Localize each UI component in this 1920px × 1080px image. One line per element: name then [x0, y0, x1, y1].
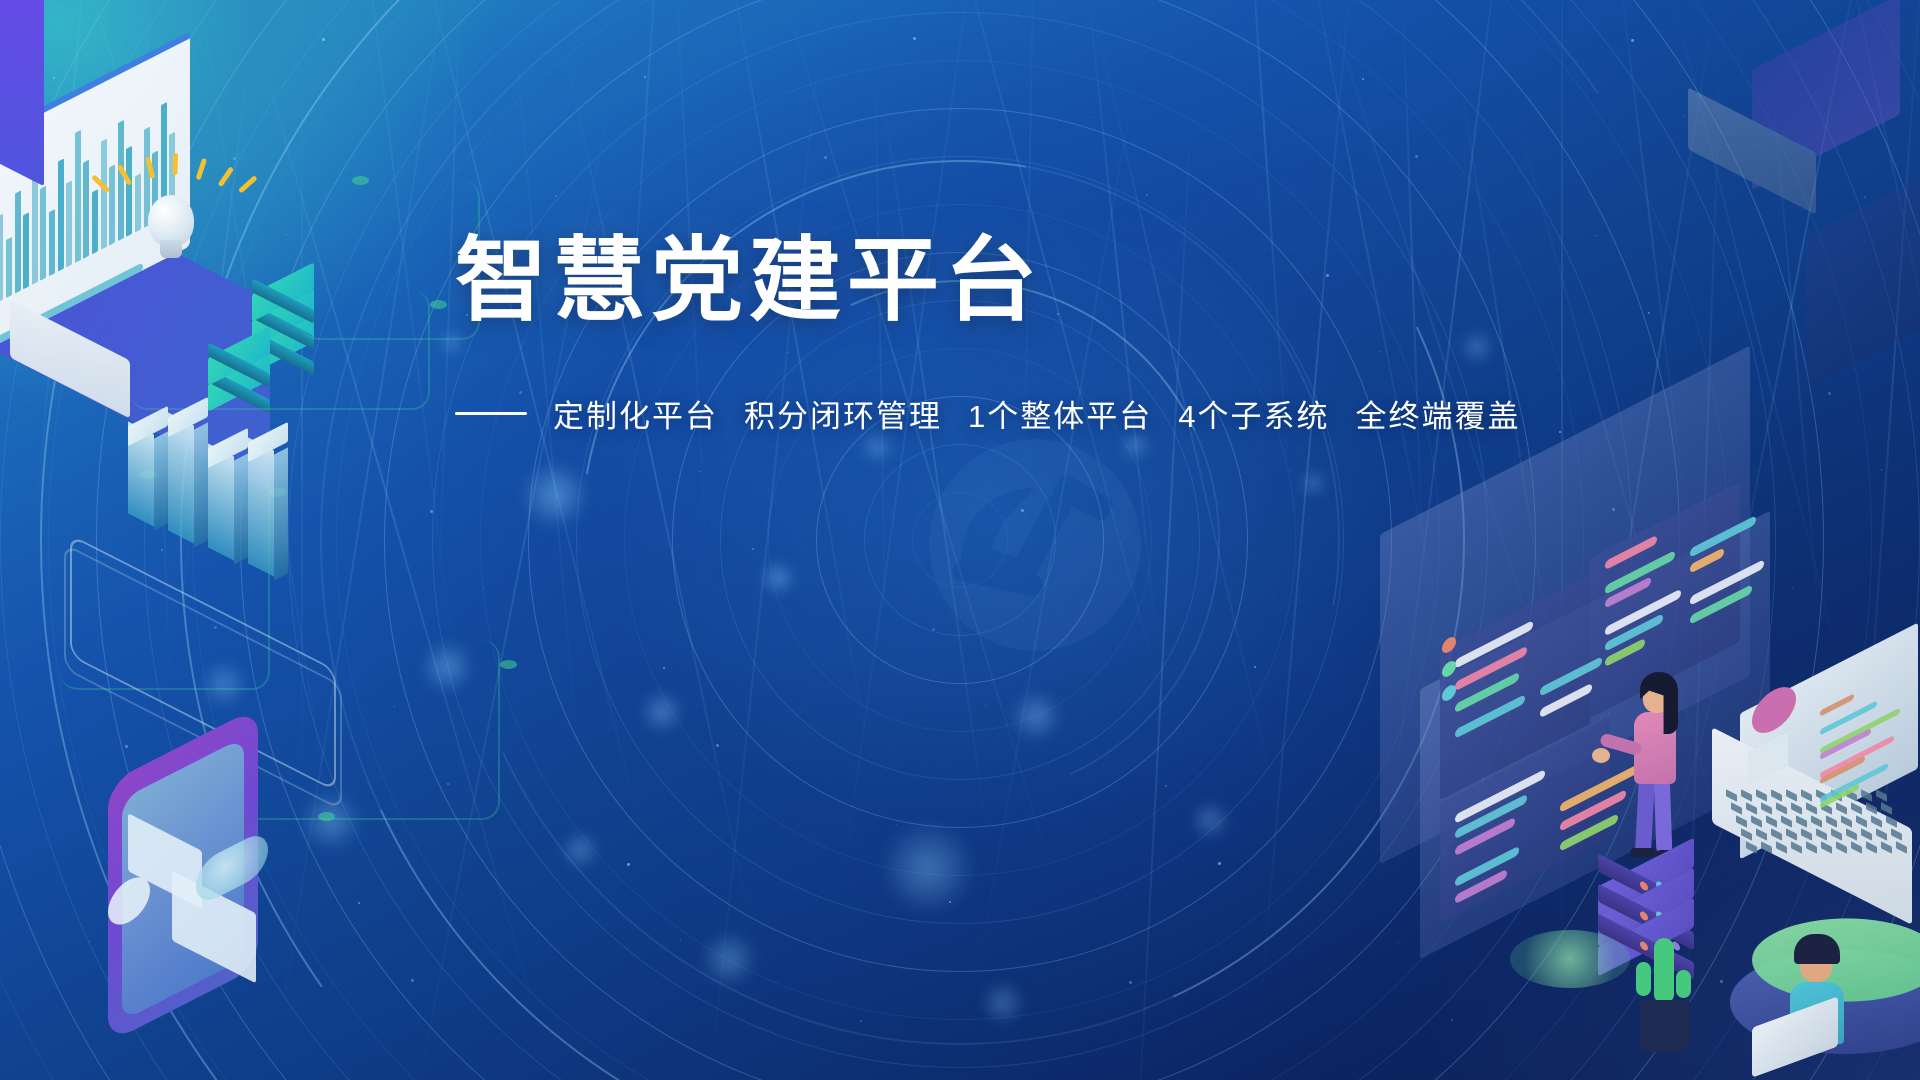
spark-dot [1129, 981, 1132, 984]
circuit-node [500, 660, 517, 669]
subtitle-segment-5: 全终端覆盖 [1356, 399, 1521, 434]
spark-dot [1165, 785, 1167, 787]
subtitle-segment-1: 定制化平台 [553, 399, 718, 434]
spark-dot [1362, 78, 1364, 80]
spark-dot [663, 667, 665, 669]
cactus-arm [1676, 970, 1691, 998]
presenter-shoe [1630, 848, 1656, 857]
spark-dot [1720, 980, 1723, 983]
bokeh-dot [1010, 690, 1062, 742]
spark-dot [1828, 392, 1831, 395]
spark-dot [680, 940, 681, 941]
page-title: 智慧党建平台 [455, 235, 1555, 327]
spark-dot [752, 548, 754, 550]
cpc-party-emblem-icon [920, 430, 1150, 660]
spark-dot [1398, 942, 1399, 943]
spark-dot [1254, 666, 1256, 668]
banner-text-block: 智慧党建平台 定制化平台积分闭环管理1个整体平台4个子系统全终端覆盖 [455, 235, 1555, 436]
spark-dot [1290, 470, 1291, 471]
spark-dot [1218, 862, 1221, 865]
platform-glow-disc [1510, 930, 1630, 988]
bokeh-dot [640, 690, 684, 734]
cactus-arm [1636, 962, 1651, 996]
spark-dot [860, 1020, 862, 1022]
bokeh-dot [1300, 470, 1326, 496]
spark-dot [1559, 431, 1561, 433]
spark-dot [824, 156, 827, 159]
banner-stage: 智慧党建平台 定制化平台积分闭环管理1个整体平台4个子系统全终端覆盖 [0, 0, 1920, 1080]
spark-dot [1881, 469, 1882, 470]
seated-person-hair [1794, 934, 1840, 964]
laptop-icon [0, 0, 360, 290]
spark-dot [949, 901, 951, 903]
subtitle-segment-3: 1个整体平台 [968, 399, 1152, 434]
subtitle-row: 定制化平台积分闭环管理1个整体平台4个子系统全终端覆盖 [455, 391, 1555, 436]
spark-dot [1595, 235, 1596, 236]
spark-dot [1648, 312, 1650, 314]
bokeh-dot [700, 930, 758, 988]
spark-dot [591, 1059, 592, 1060]
spark-dot [1146, 194, 1148, 196]
circuit-node [318, 812, 335, 821]
spark-dot [1182, 1058, 1183, 1059]
presenter-hand [1592, 748, 1610, 763]
spark-dot [358, 902, 360, 904]
spark-dot [985, 705, 986, 706]
spark-dot [627, 863, 630, 866]
bokeh-dot [1190, 800, 1230, 840]
spark-dot [1864, 196, 1866, 198]
spark-dot [1631, 39, 1634, 42]
spark-dot [716, 744, 719, 747]
bokeh-dot [760, 560, 796, 596]
spark-dot [896, 824, 897, 825]
spark-dot [913, 37, 916, 40]
subtitle-segment-4: 4个子系统 [1178, 399, 1329, 434]
bokeh-dot [880, 820, 976, 916]
cactus-stem [1654, 938, 1674, 1004]
spark-dot [411, 979, 414, 982]
bokeh-dot [560, 830, 600, 870]
subtitle-segment-2: 积分闭环管理 [744, 399, 942, 434]
plant-pot [1640, 1000, 1690, 1052]
presenter-leg [1654, 775, 1673, 854]
spark-dot [1792, 588, 1793, 589]
spark-dot [1684, 116, 1685, 117]
spark-dot [89, 941, 90, 942]
spark-dot [1451, 1019, 1453, 1021]
bokeh-dot [980, 980, 1026, 1026]
spark-dot [1415, 155, 1418, 158]
horizontal-rule-icon [455, 412, 527, 415]
spark-dot [1093, 117, 1094, 118]
banner-subtitle: 定制化平台积分闭环管理1个整体平台4个子系统全终端覆盖 [553, 391, 1521, 436]
